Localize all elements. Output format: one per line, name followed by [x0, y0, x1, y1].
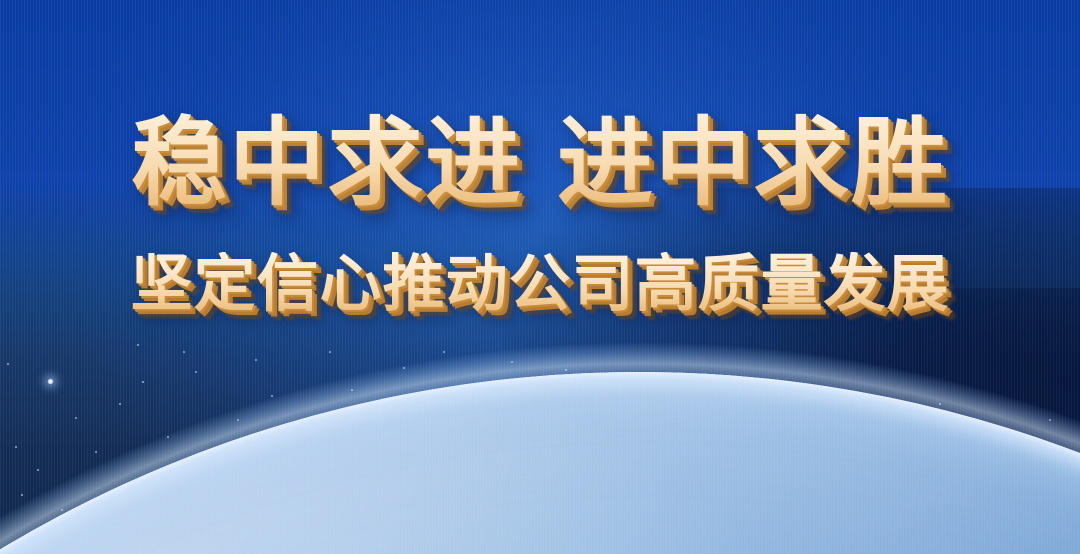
- headline-phrase-1: 稳中求进: [131, 110, 523, 217]
- headline-block: 稳中求进进中求胜 坚定信心推动公司高质量发展: [0, 112, 1080, 318]
- headline-phrase-2: 进中求胜: [557, 110, 949, 217]
- poster-banner: 稳中求进进中求胜 坚定信心推动公司高质量发展: [0, 0, 1080, 554]
- sub-headline: 坚定信心推动公司高质量发展: [0, 252, 1080, 318]
- main-headline: 稳中求进进中求胜: [0, 112, 1080, 216]
